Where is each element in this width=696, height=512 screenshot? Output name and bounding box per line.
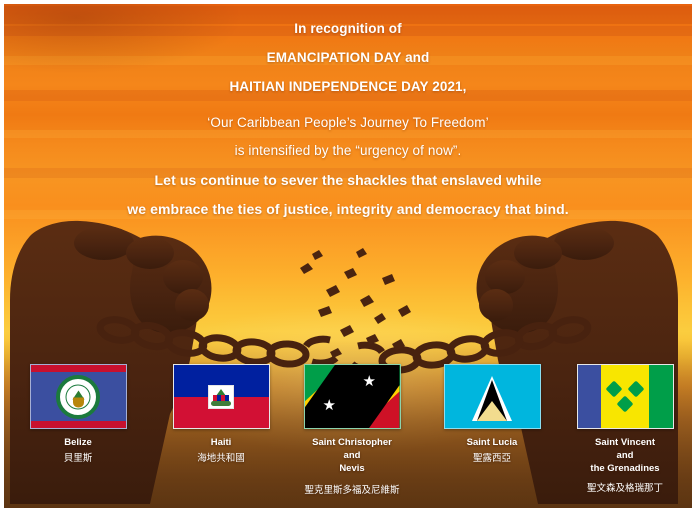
- flag-item-saint-lucia: Saint Lucia 聖露西亞: [426, 364, 558, 465]
- flag-saint-lucia-icon: [444, 364, 541, 429]
- svg-green-band: [649, 365, 673, 428]
- flag-label-cn-haiti: 海地共和國: [155, 452, 287, 465]
- belize-arms-inner: [66, 384, 91, 409]
- flag-item-belize: Belize 貝里斯: [12, 364, 144, 465]
- haiti-arms-base: [211, 401, 231, 406]
- headline-line-3: HAITIAN INDEPENDENCE DAY 2021,: [0, 79, 696, 94]
- belize-shield: [73, 397, 84, 407]
- sky-band: [4, 130, 692, 138]
- flag-label-haiti: Haiti: [155, 436, 287, 449]
- emancipation-day-poster: In recognition of EMANCIPATION DAY and H…: [0, 0, 696, 512]
- headline-line-1: In recognition of: [0, 21, 696, 36]
- flag-label-cn-saint-christopher-and-nevis: 聖克里斯多福及尼維斯: [286, 484, 418, 497]
- flag-label-cn-saint-lucia: 聖露西亞: [426, 452, 558, 465]
- flag-label-belize: Belize: [12, 436, 144, 449]
- flag-label-cn-saint-vincent-and-the-grenadines: 聖文森及格瑞那丁: [559, 482, 691, 495]
- headline-line-7: we embrace the ties of justice, integrit…: [0, 201, 696, 217]
- flag-haiti-icon: [173, 364, 270, 429]
- skn-star-icon: ★: [323, 398, 336, 413]
- flag-item-saint-christopher-and-nevis: ★ ★ Saint Christopher and Nevis 聖克里斯多福及尼…: [286, 364, 418, 497]
- headline-line-2: EMANCIPATION DAY and: [0, 50, 696, 65]
- flag-belize-icon: [30, 364, 127, 429]
- lucia-gold-triangle: [477, 401, 507, 421]
- skn-star-icon: ★: [363, 374, 376, 389]
- belize-red-stripe-bottom: [31, 421, 126, 428]
- flag-label-saint-christopher-and-nevis: Saint Christopher and Nevis: [286, 436, 418, 475]
- flag-item-saint-vincent-and-the-grenadines: Saint Vincent and the Grenadines 聖文森及格瑞那…: [559, 364, 691, 495]
- flag-label-saint-lucia: Saint Lucia: [426, 436, 558, 449]
- headline-line-4: ‘Our Caribbean People’s Journey To Freed…: [0, 115, 696, 130]
- flags-row: Belize 貝里斯 Haiti 海地共和國 ★ ★: [0, 364, 696, 512]
- headline-line-5: is intensified by the “urgency of now”.: [0, 143, 696, 158]
- flag-saint-vincent-and-the-grenadines-icon: [577, 364, 674, 429]
- svg-blue-band: [578, 365, 602, 428]
- belize-red-stripe-top: [31, 365, 126, 372]
- haiti-coat-of-arms: [208, 385, 234, 409]
- flag-item-haiti: Haiti 海地共和國: [155, 364, 287, 465]
- flag-label-cn-belize: 貝里斯: [12, 452, 144, 465]
- headline-line-6: Let us continue to sever the shackles th…: [0, 172, 696, 188]
- belize-coat-of-arms: [56, 375, 100, 419]
- flag-saint-christopher-and-nevis-icon: ★ ★: [304, 364, 401, 429]
- flag-label-saint-vincent-and-the-grenadines: Saint Vincent and the Grenadines: [559, 436, 691, 475]
